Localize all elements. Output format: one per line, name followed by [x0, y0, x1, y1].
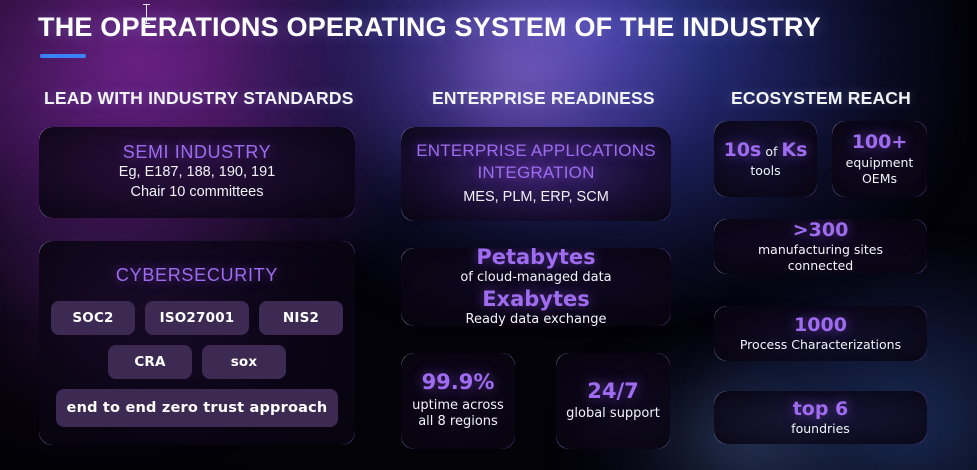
card-tools[interactable]: 10s of Ks tools	[713, 120, 818, 198]
exabytes-label: Ready data exchange	[411, 312, 661, 327]
pill-sox[interactable]: sox	[202, 345, 286, 379]
uptime-stat: 99.9%	[411, 371, 505, 395]
eai-title-line-1: ENTERPRISE APPLICATIONS	[411, 140, 661, 162]
semi-industry-line-2: Chair 10 committees	[49, 183, 345, 203]
pill-cra[interactable]: CRA	[108, 345, 192, 379]
process-label: Process Characterizations	[724, 337, 917, 353]
title-accent-rule	[40, 54, 86, 58]
process-stat: 1000	[724, 315, 917, 336]
text-cursor-icon	[146, 4, 147, 24]
cybersecurity-pill-row-2: CRA sox	[49, 345, 345, 379]
sites-stat: >300	[724, 220, 917, 241]
foundries-stat: top 6	[724, 399, 917, 420]
oems-label-line-1: equipment	[842, 155, 917, 171]
card-data-scale[interactable]: Petabytes of cloud-managed data Exabytes…	[400, 247, 672, 327]
support-label: global support	[566, 406, 660, 422]
pill-soc2[interactable]: SOC2	[51, 301, 135, 335]
card-process-characterizations[interactable]: 1000 Process Characterizations	[713, 305, 928, 362]
card-cybersecurity[interactable]: CYBERSECURITY SOC2 ISO27001 NIS2 CRA sox…	[38, 240, 356, 446]
tools-stat-suffix: Ks	[781, 140, 807, 161]
tools-stat-prefix: 10s	[724, 140, 762, 161]
uptime-label-line-1: uptime across	[411, 398, 505, 414]
semi-industry-title: SEMI INDUSTRY	[49, 142, 345, 163]
cybersecurity-title: CYBERSECURITY	[49, 265, 345, 286]
slide-canvas: THE OPERATIONS OPERATING SYSTEM OF THE I…	[0, 0, 977, 470]
cybersecurity-pill-row-3: end to end zero trust approach	[49, 389, 345, 427]
cybersecurity-pill-row-1: SOC2 ISO27001 NIS2	[49, 301, 345, 335]
eai-title-line-2: INTEGRATION	[411, 162, 661, 184]
uptime-label-line-2: all 8 regions	[411, 414, 505, 430]
card-global-support[interactable]: 24/7 global support	[555, 352, 671, 450]
pill-nis2[interactable]: NIS2	[259, 301, 343, 335]
card-enterprise-applications-integration[interactable]: ENTERPRISE APPLICATIONS INTEGRATION MES,…	[400, 126, 672, 222]
petabytes-stat: Petabytes	[411, 247, 661, 270]
foundries-label: foundries	[724, 421, 917, 437]
support-stat: 24/7	[566, 380, 660, 404]
tools-label: tools	[724, 163, 807, 179]
eai-subtitle: MES, PLM, ERP, SCM	[411, 188, 661, 208]
column-heading-enterprise: ENTERPRISE READINESS	[432, 88, 655, 109]
tools-stat-of: of	[765, 144, 777, 159]
tools-stat-line: 10s of Ks	[724, 140, 807, 161]
pill-zero-trust[interactable]: end to end zero trust approach	[56, 389, 338, 427]
card-uptime[interactable]: 99.9% uptime across all 8 regions	[400, 352, 516, 450]
card-foundries[interactable]: top 6 foundries	[713, 390, 928, 445]
petabytes-label: of cloud-managed data	[411, 270, 661, 286]
pill-iso27001[interactable]: ISO27001	[145, 301, 249, 335]
card-equipment-oems[interactable]: 100+ equipment OEMs	[831, 120, 928, 198]
column-heading-ecosystem: ECOSYSTEM REACH	[731, 88, 911, 109]
page-title: THE OPERATIONS OPERATING SYSTEM OF THE I…	[38, 12, 821, 43]
semi-industry-line-1: Eg, E187, 188, 190, 191	[49, 163, 345, 183]
card-manufacturing-sites[interactable]: >300 manufacturing sites connected	[713, 218, 928, 275]
oems-label-line-2: OEMs	[842, 171, 917, 187]
card-semi-industry[interactable]: SEMI INDUSTRY Eg, E187, 188, 190, 191 Ch…	[38, 126, 356, 219]
sites-label: manufacturing sites connected	[724, 242, 917, 273]
exabytes-stat: Exabytes	[411, 288, 661, 312]
column-heading-standards: LEAD WITH INDUSTRY STANDARDS	[44, 88, 354, 109]
oems-stat: 100+	[842, 132, 917, 153]
